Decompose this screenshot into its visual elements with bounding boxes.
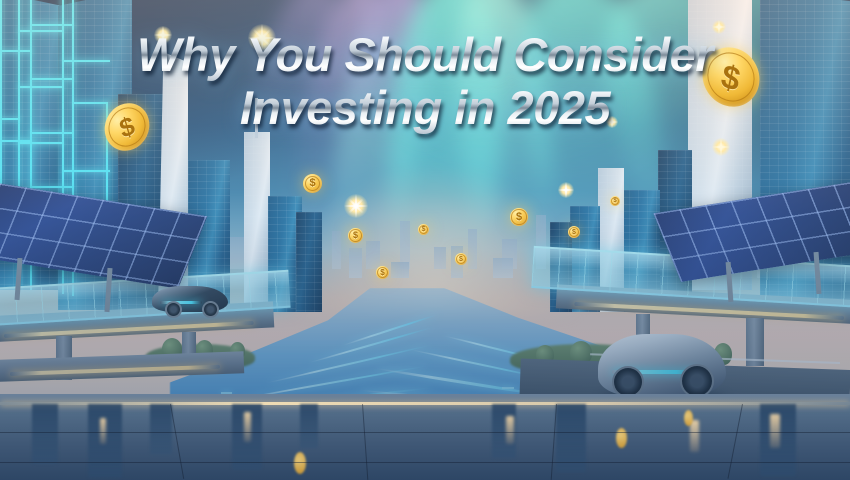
coin-small: $ [418, 224, 429, 235]
coin-small: $ [303, 174, 322, 193]
coin-small: $ [455, 253, 467, 265]
sparkle-star [712, 138, 730, 156]
coin-small: $ [376, 266, 389, 279]
title-line-1: Why You Should Consider [0, 28, 850, 81]
sparkle-star [558, 182, 574, 198]
coin-small: $ [510, 208, 528, 226]
sparkle-star [344, 194, 368, 218]
hero-banner: $ $ $ $ $ $ $ $ $ $ [0, 0, 850, 480]
coin-small: $ [568, 226, 580, 238]
coin-small: $ [610, 196, 620, 206]
plaza-edge-light [0, 402, 850, 405]
hero-title: Why You Should Consider Investing in 202… [0, 28, 850, 134]
coin-small: $ [348, 228, 363, 243]
title-line-2: Investing in 2025 [0, 81, 850, 134]
